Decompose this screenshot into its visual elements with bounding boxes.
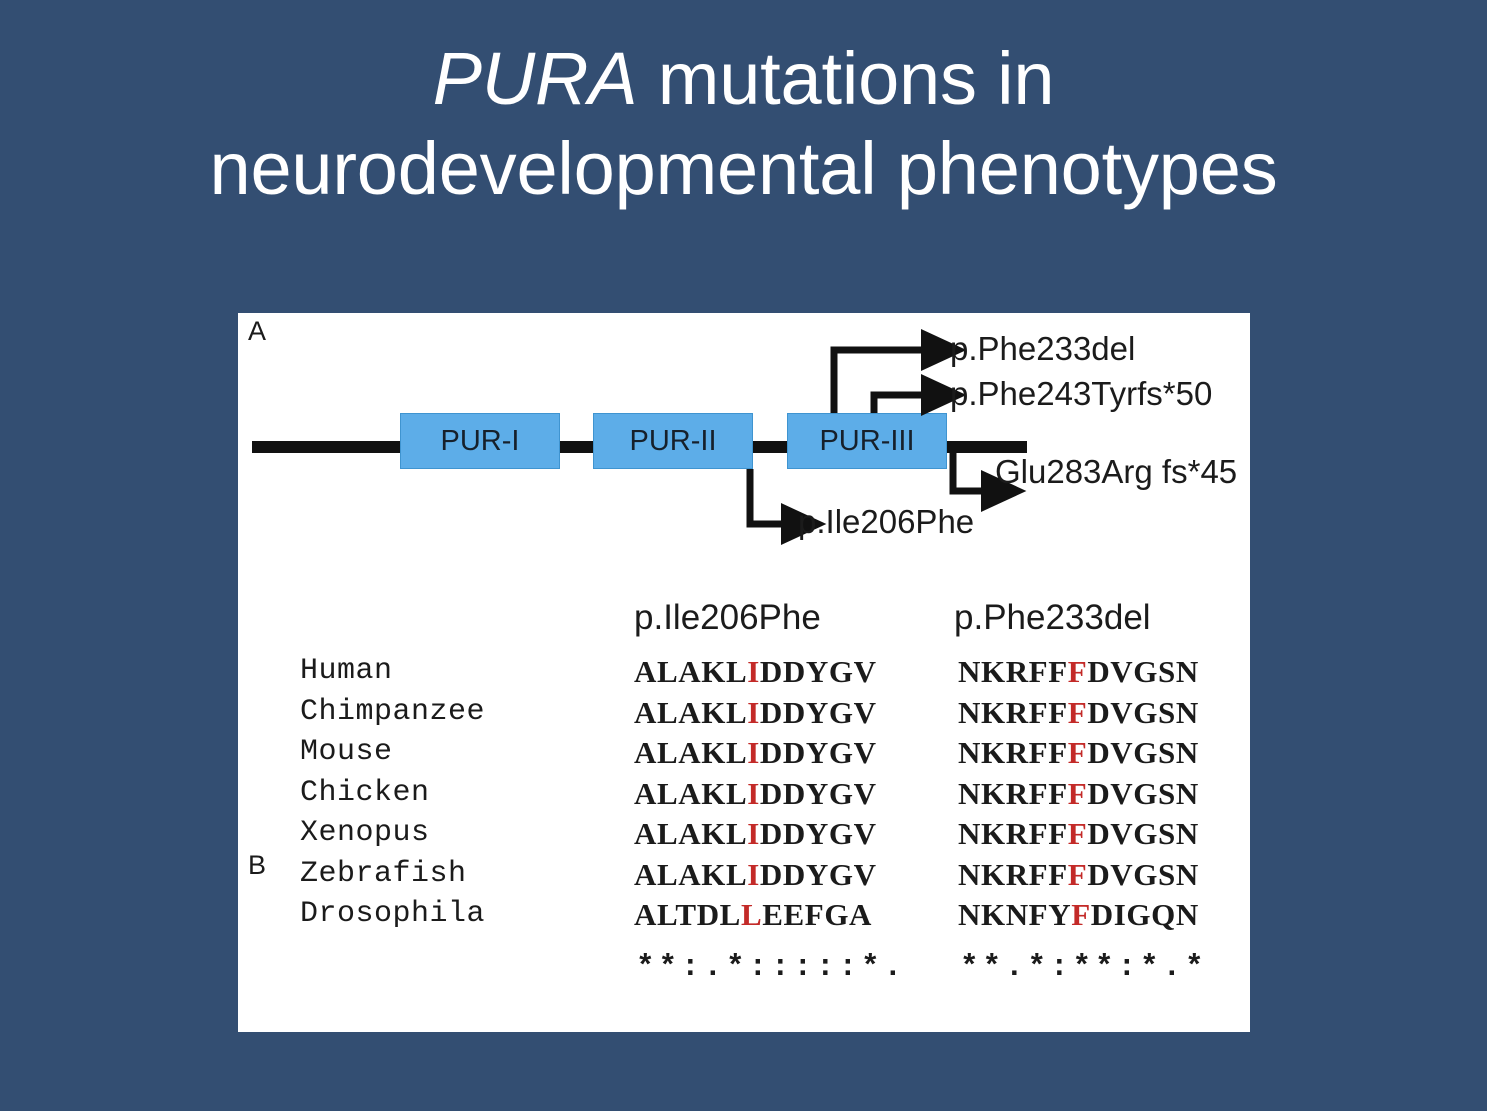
alignment-column-header-2: p.Phe233del — [954, 598, 1151, 638]
seq-pre: NKRFF — [958, 695, 1068, 730]
seq-post: EEFGA — [762, 897, 872, 932]
species-label: Mouse — [300, 735, 393, 769]
alignment-rows: Human ALAKLIDDYGV NKRFFFDVGSN Chimpanzee… — [238, 654, 1250, 990]
seq-pre: ALAKL — [634, 816, 747, 851]
seq-pre: NKRFF — [958, 816, 1068, 851]
alignment-column-header-1: p.Ile206Phe — [634, 598, 821, 638]
seq-post: DVGSN — [1087, 857, 1199, 892]
conservation-row: **:.*:::::*. **.*:**:*.* — [238, 950, 1250, 990]
seq-post: DVGSN — [1087, 735, 1199, 770]
callout-label-phe233del: p.Phe233del — [950, 330, 1135, 368]
seq-highlight: F — [1068, 735, 1088, 770]
species-label: Chimpanzee — [300, 695, 485, 729]
page-title: PURA mutations in neurodevelopmental phe… — [0, 34, 1487, 215]
seq-highlight: I — [747, 857, 760, 892]
seq-pre: ALAKL — [634, 695, 747, 730]
seq-post: DVGSN — [1087, 654, 1199, 689]
seq-post: DVGSN — [1087, 816, 1199, 851]
sequence-col1: ALAKLIDDYGV — [634, 735, 877, 771]
seq-highlight: I — [747, 654, 760, 689]
alignment-row: Mouse ALAKLIDDYGV NKRFFFDVGSN — [238, 735, 1250, 776]
seq-post: DIGQN — [1091, 897, 1199, 932]
seq-highlight: I — [747, 695, 760, 730]
sequence-col2: NKRFFFDVGSN — [958, 735, 1199, 771]
sequence-col1: ALAKLIDDYGV — [634, 816, 877, 852]
seq-pre: ALAKL — [634, 776, 747, 811]
arrow-ile206phe — [750, 469, 783, 524]
seq-pre: ALAKL — [634, 654, 747, 689]
arrow-phe243tyrfs — [874, 395, 923, 413]
species-label: Xenopus — [300, 816, 430, 850]
sequence-col2: NKRFFFDVGSN — [958, 776, 1199, 812]
callout-label-phe243tyrfs: p.Phe243Tyrfs*50 — [950, 375, 1212, 413]
seq-post: DVGSN — [1087, 776, 1199, 811]
figure-image: A PUR-I PUR-II PUR-III p.Phe233del p.Phe… — [238, 313, 1250, 1032]
seq-highlight: F — [1071, 897, 1091, 932]
sequence-col1: ALAKLIDDYGV — [634, 857, 877, 893]
seq-pre: ALAKL — [634, 735, 747, 770]
sequence-col2: NKRFFFDVGSN — [958, 816, 1199, 852]
seq-post: DDYGV — [760, 695, 877, 730]
seq-highlight: F — [1068, 776, 1088, 811]
species-label: Human — [300, 654, 393, 688]
sequence-col1: ALAKLIDDYGV — [634, 776, 877, 812]
seq-highlight: F — [1068, 654, 1088, 689]
sequence-col2: NKRFFFDVGSN — [958, 857, 1199, 893]
seq-pre: ALTDL — [634, 897, 741, 932]
seq-post: DDYGV — [760, 735, 877, 770]
alignment-row: Human ALAKLIDDYGV NKRFFFDVGSN — [238, 654, 1250, 695]
title-remainder: mutations in neurodevelopmental phenotyp… — [210, 37, 1278, 210]
alignment-row: Xenopus ALAKLIDDYGV NKRFFFDVGSN — [238, 816, 1250, 857]
seq-pre: NKNFY — [958, 897, 1071, 932]
species-label: Drosophila — [300, 897, 485, 931]
arrow-glu283argfs — [953, 445, 983, 491]
panel-a: A PUR-I PUR-II PUR-III p.Phe233del p.Phe… — [238, 313, 1250, 578]
alignment-row: Chimpanzee ALAKLIDDYGV NKRFFFDVGSN — [238, 695, 1250, 736]
panel-b: B p.Ile206Phe p.Phe233del Human ALAKLIDD… — [238, 578, 1250, 1032]
callout-label-glu283argfs: Glu283Arg fs*45 — [995, 453, 1237, 491]
sequence-col2: NKRFFFDVGSN — [958, 695, 1199, 731]
seq-highlight: I — [747, 816, 760, 851]
seq-post: DDYGV — [760, 654, 877, 689]
sequence-col2: NKNFYFDIGQN — [958, 897, 1199, 933]
seq-highlight: F — [1068, 816, 1088, 851]
gene-name: PURA — [433, 37, 638, 120]
seq-pre: NKRFF — [958, 857, 1068, 892]
seq-post: DVGSN — [1087, 695, 1199, 730]
alignment-row: Chicken ALAKLIDDYGV NKRFFFDVGSN — [238, 776, 1250, 817]
sequence-col2: NKRFFFDVGSN — [958, 654, 1199, 690]
seq-highlight: F — [1068, 695, 1088, 730]
seq-pre: ALAKL — [634, 857, 747, 892]
seq-post: DDYGV — [760, 776, 877, 811]
seq-post: DDYGV — [760, 816, 877, 851]
arrow-phe233del — [834, 350, 923, 413]
alignment-row: Zebrafish ALAKLIDDYGV NKRFFFDVGSN — [238, 857, 1250, 898]
alignment-row: Drosophila ALTDLLEEFGA NKNFYFDIGQN — [238, 897, 1250, 938]
conservation-col2: **.*:**:*.* — [960, 950, 1208, 985]
sequence-col1: ALAKLIDDYGV — [634, 695, 877, 731]
callout-label-ile206phe: p.Ile206Phe — [798, 503, 974, 541]
seq-post: DDYGV — [760, 857, 877, 892]
species-label: Chicken — [300, 776, 430, 810]
seq-pre: NKRFF — [958, 735, 1068, 770]
seq-highlight: L — [741, 897, 762, 932]
seq-pre: NKRFF — [958, 654, 1068, 689]
sequence-col1: ALTDLLEEFGA — [634, 897, 872, 933]
species-label: Zebrafish — [300, 857, 467, 891]
seq-highlight: I — [747, 776, 760, 811]
seq-highlight: I — [747, 735, 760, 770]
seq-highlight: F — [1068, 857, 1088, 892]
seq-pre: NKRFF — [958, 776, 1068, 811]
sequence-col1: ALAKLIDDYGV — [634, 654, 877, 690]
conservation-col1: **:.*:::::*. — [636, 950, 906, 985]
